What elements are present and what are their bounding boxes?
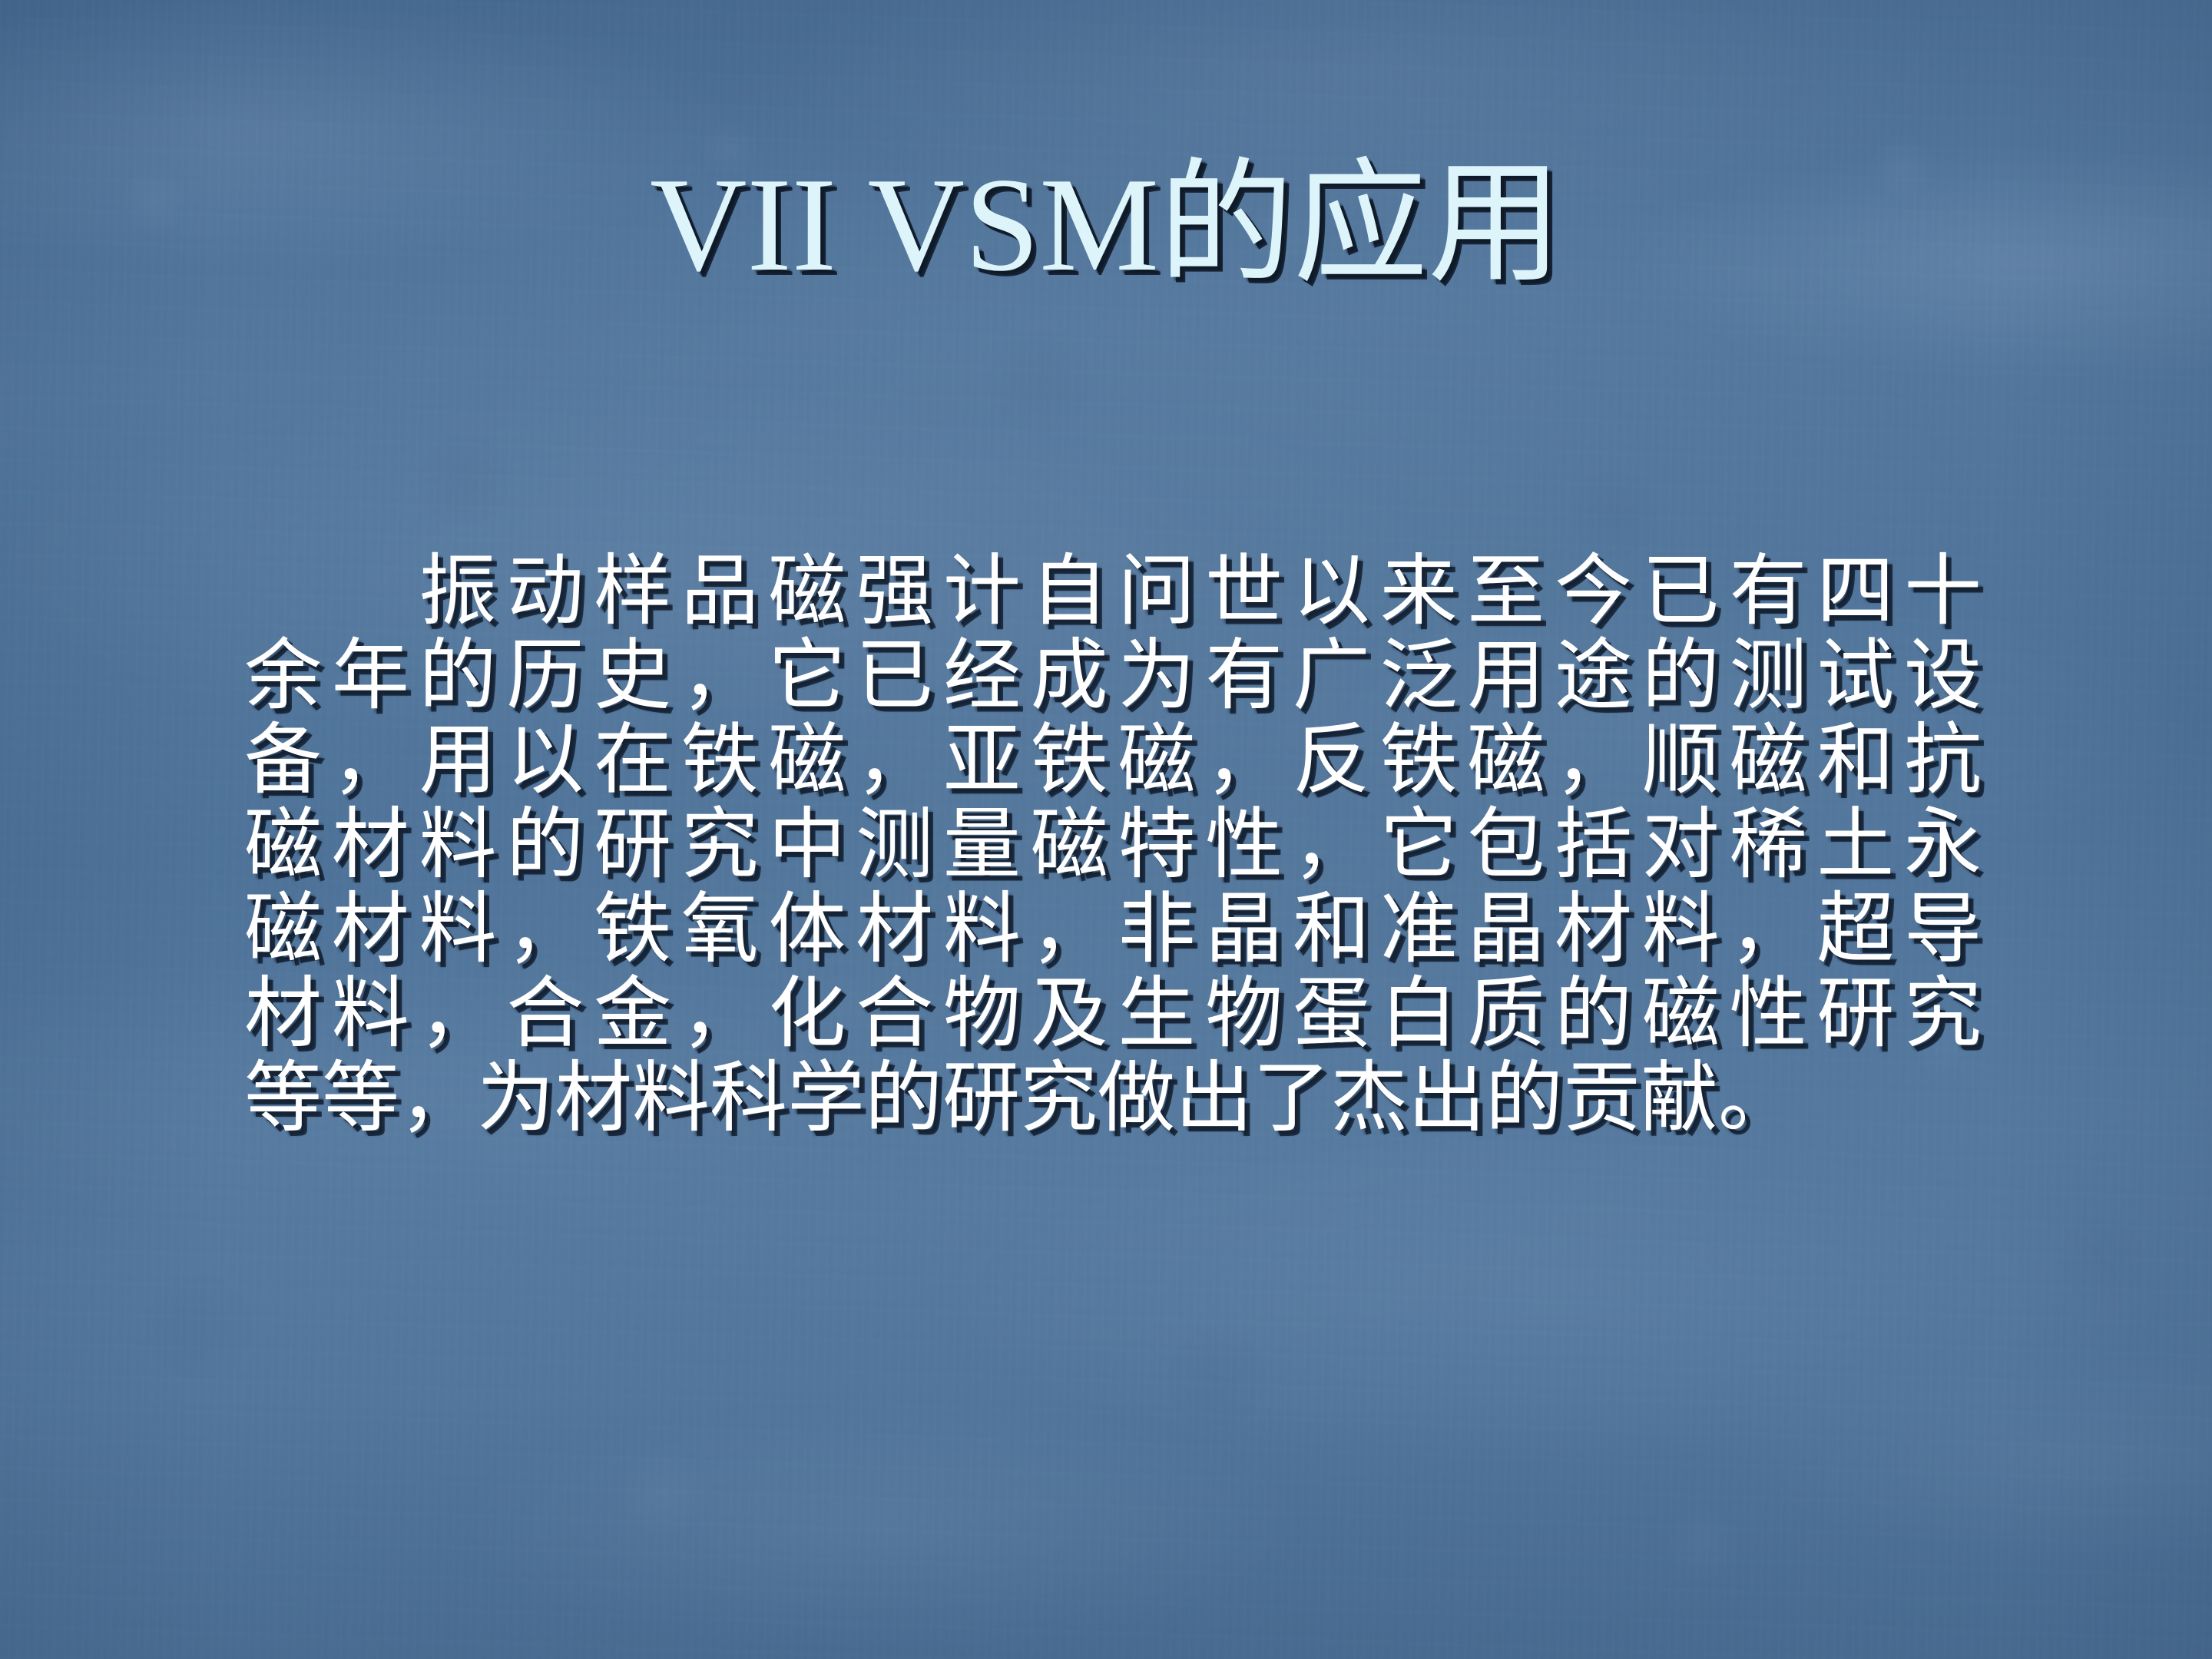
slide-body-text: 振动样品磁强计自问世以来至今已有四十 余年的历史，它已经成为有广泛用途的测试设 … [244, 549, 1982, 1141]
body-text-line: 磁材料的研究中测量磁特性，它包括对稀土永 [244, 803, 1982, 887]
body-text-line: 磁材料，铁氧体材料，非晶和准晶材料，超导 [244, 887, 1982, 972]
body-text-line: 等等，为材料科学的研究做出了杰出的贡献。 [244, 1056, 1982, 1141]
body-text-line: 备，用以在铁磁，亚铁磁，反铁磁，顺磁和抗 [244, 718, 1982, 803]
body-text-line: 材料，合金，化合物及生物蛋白质的磁性研究 [244, 972, 1982, 1056]
body-text-line: 振动样品磁强计自问世以来至今已有四十 [244, 549, 1982, 634]
presentation-slide: VII VSM的应用 振动样品磁强计自问世以来至今已有四十 余年的历史，它已经成… [0, 0, 2212, 1659]
body-text-line: 余年的历史，它已经成为有广泛用途的测试设 [244, 634, 1982, 718]
slide-content: VII VSM的应用 振动样品磁强计自问世以来至今已有四十 余年的历史，它已经成… [0, 0, 2212, 1659]
slide-title: VII VSM的应用 [0, 157, 2212, 292]
